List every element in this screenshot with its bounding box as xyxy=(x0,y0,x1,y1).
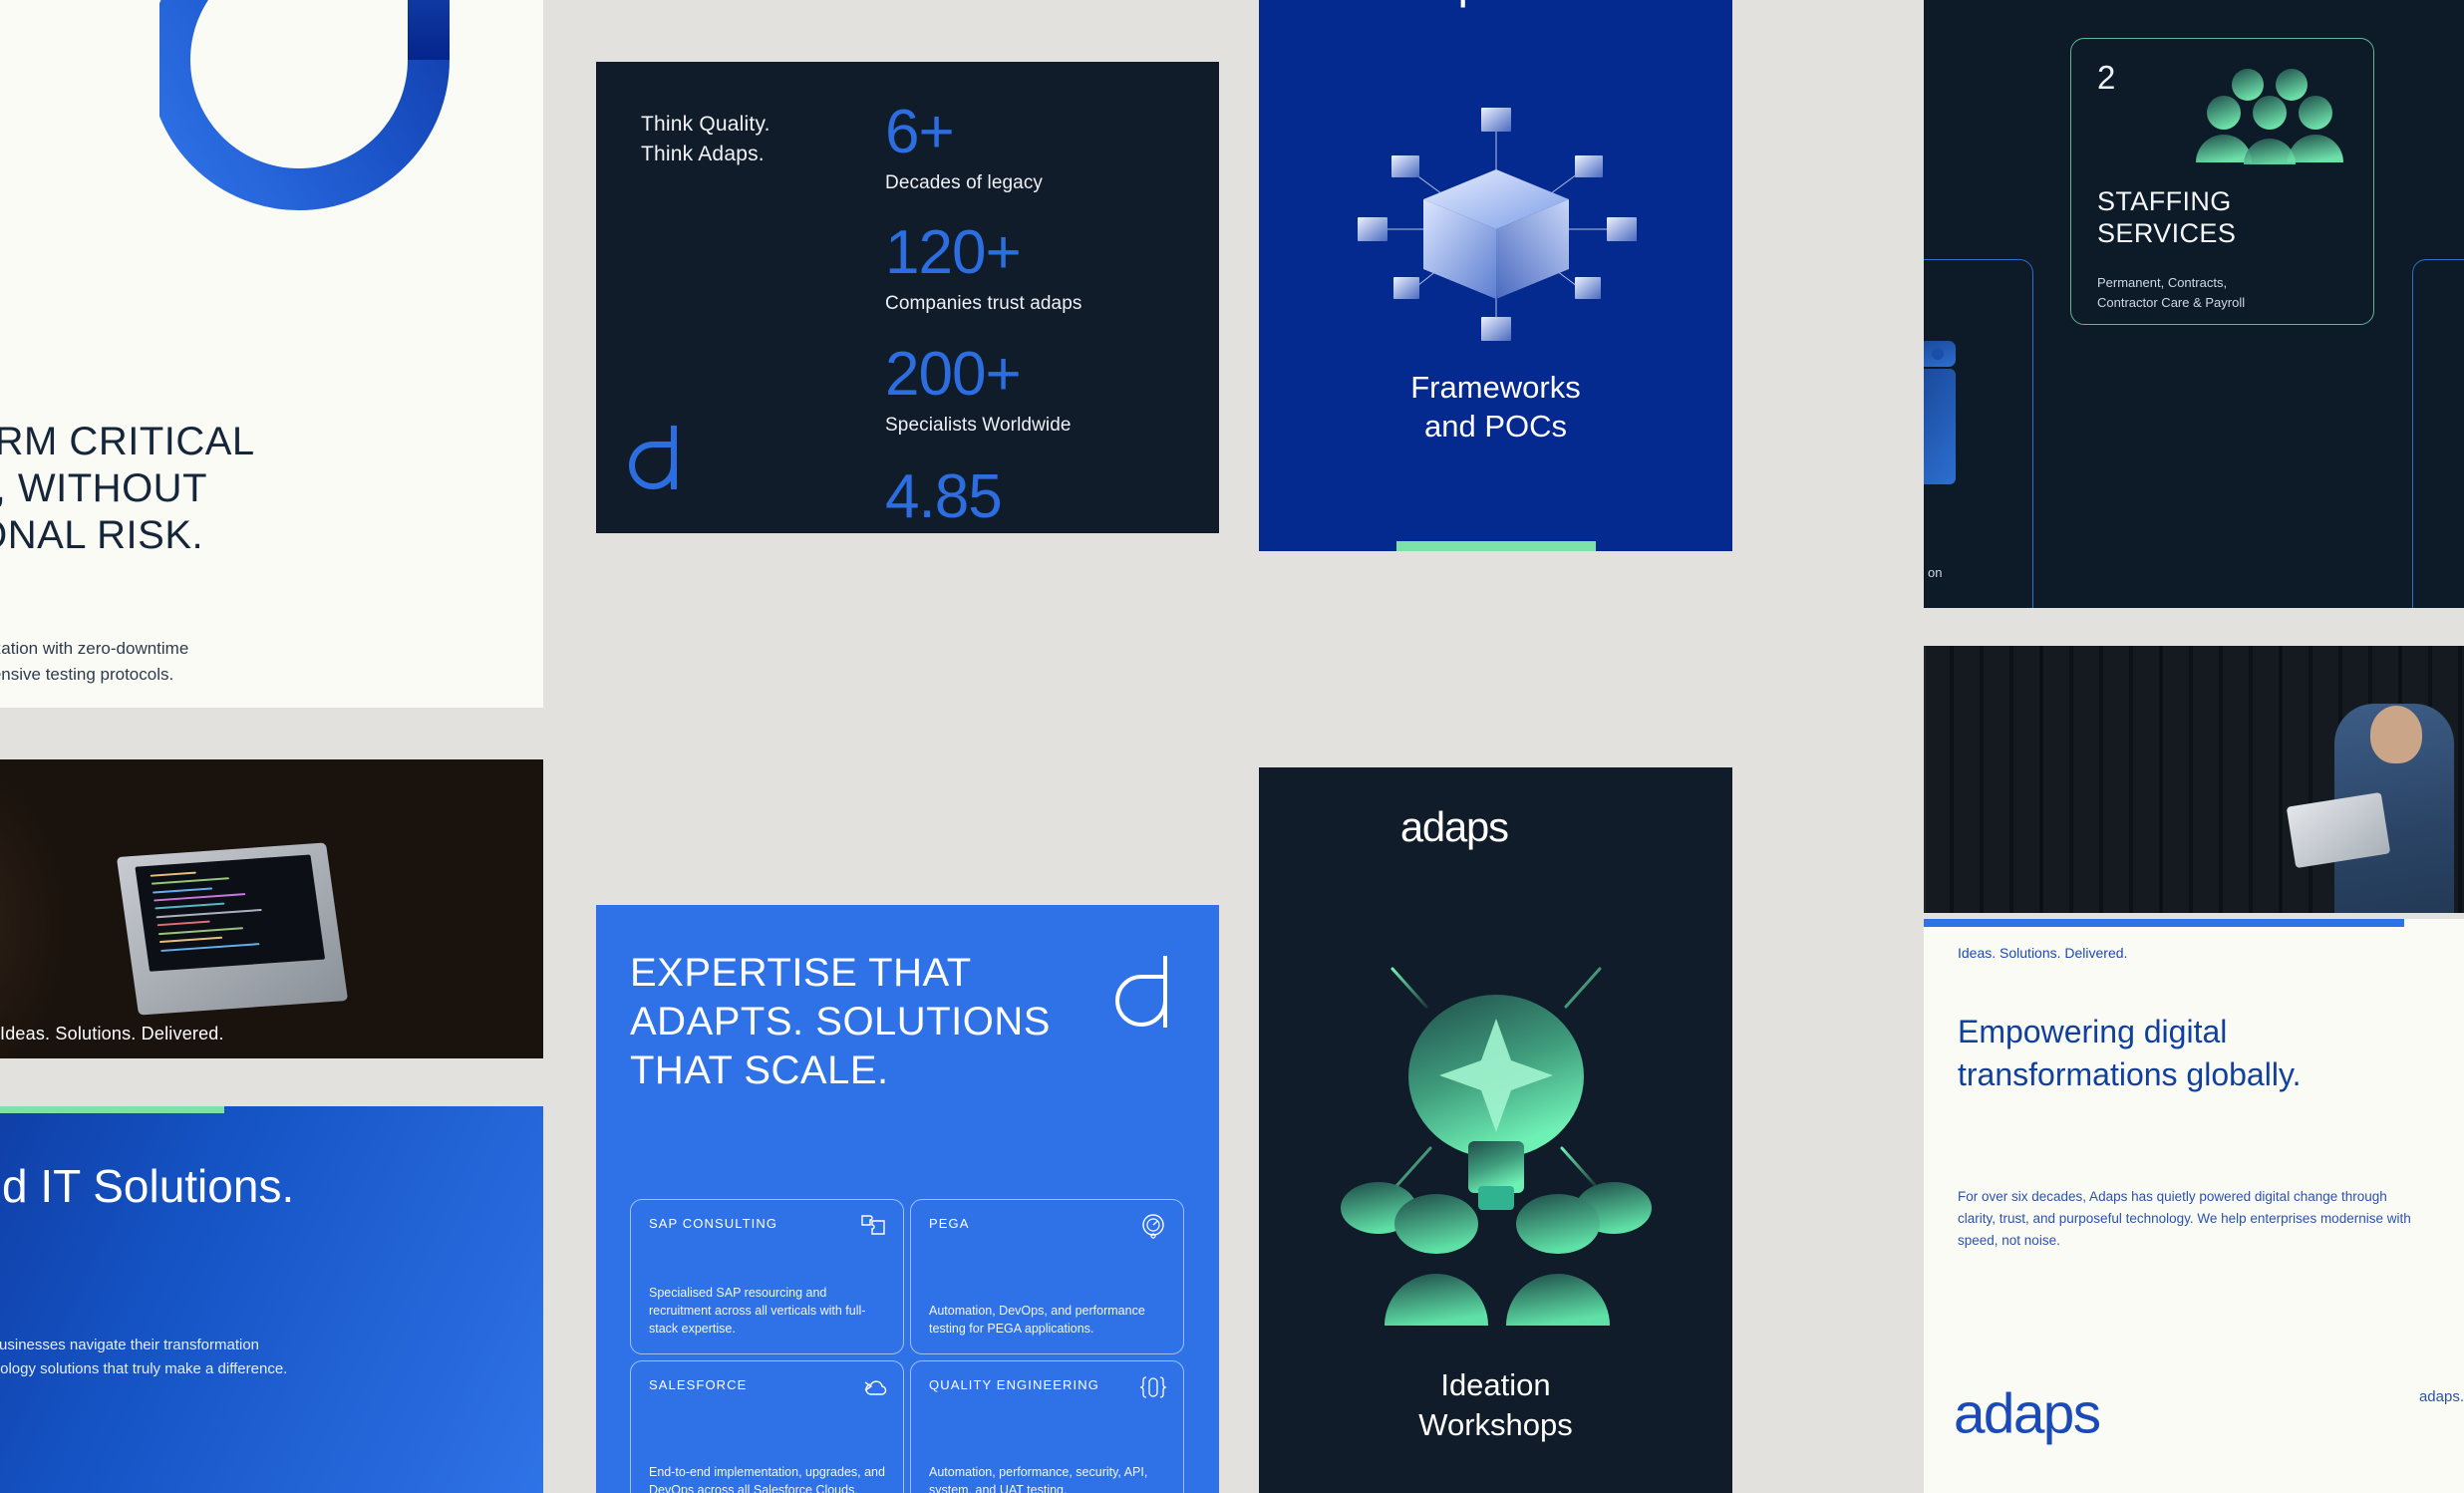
panel-frameworks-pocs: adaps xyxy=(1259,0,1732,551)
staffing-title-line2: SERVICES xyxy=(2097,218,2236,250)
service-title: PEGA xyxy=(929,1216,1165,1231)
adaps-a-mark-icon xyxy=(626,424,684,493)
svg-text:adaps: adaps xyxy=(1384,0,1504,8)
panel-server-photo xyxy=(1924,646,2464,913)
stat-value: 6+ xyxy=(885,104,1043,162)
svg-text:adaps: adaps xyxy=(1399,805,1507,850)
puzzle-icon xyxy=(859,1212,887,1240)
empower-body: For over six decades, Adaps has quietly … xyxy=(1958,1186,2411,1252)
frameworks-title-line1: Frameworks xyxy=(1259,369,1732,408)
ideation-title: Ideation Workshops xyxy=(1259,1365,1732,1446)
stat-value: 4.85 xyxy=(885,468,1072,527)
panel-transform: TRANSFORM CRITICAL SYSTEMS, WITHOUT OPER… xyxy=(0,0,543,708)
stat-item: 120+ Companies trust adaps xyxy=(885,224,1081,315)
frameworks-title: Frameworks and POCs xyxy=(1259,369,1732,447)
service-title: QUALITY ENGINEERING xyxy=(929,1377,1165,1392)
adaps-wordmark-white: adaps xyxy=(1384,0,1608,10)
empower-footer-mark: adaps. xyxy=(2419,1388,2464,1405)
panel-team-photo: Ideas. Solutions. Delivered. xyxy=(0,759,543,1058)
browser-window-icon xyxy=(1924,339,1994,488)
service-card-salesforce[interactable]: SALESFORCE End-to-end implementation, up… xyxy=(630,1360,904,1493)
panel-end-to-end: End-to-end IT Solutions. We are dedicate… xyxy=(0,1106,543,1493)
engineer-head xyxy=(2370,706,2422,763)
empower-eyebrow: Ideas. Solutions. Delivered. xyxy=(1958,945,2127,961)
transform-subtext: Enterprise-grade modernization with zero… xyxy=(0,636,259,689)
adaps-wordmark-blue: adaps xyxy=(1954,1383,2174,1445)
empower-heading-line1: Empowering digital xyxy=(1958,1011,2436,1053)
service-desc: End-to-end implementation, upgrades, and… xyxy=(649,1463,887,1493)
service-desc: Automation, performance, security, API, … xyxy=(929,1463,1167,1493)
brand-design-board: TRANSFORM CRITICAL SYSTEMS, WITHOUT OPER… xyxy=(0,0,2464,1493)
stats-slogan: Think Quality. Think Adaps. xyxy=(641,110,770,170)
end-to-end-heading: End-to-end IT Solutions. xyxy=(0,1158,439,1214)
staffing-desc-line2: Contractor Care & Payroll xyxy=(2097,293,2353,313)
stats-slogan-line2: Think Adaps. xyxy=(641,140,770,169)
braces-capsule-icon xyxy=(1139,1373,1167,1401)
service-desc: Specialised SAP resourcing and recruitme… xyxy=(649,1284,887,1338)
staffing-step-number: 2 xyxy=(2097,59,2115,97)
adaps-wordmark-white: adaps xyxy=(0,1433,57,1493)
adaps-a-logo-icon xyxy=(159,0,488,279)
lightbulb-team-icon xyxy=(1297,937,1695,1355)
mint-accent-bar xyxy=(1396,541,1596,551)
stat-caption: Decades of legacy xyxy=(885,172,1043,194)
stat-value: 120+ xyxy=(885,224,1081,283)
cloud-sync-icon xyxy=(859,1373,887,1401)
adaps-wordmark-white: adaps xyxy=(1399,805,1591,851)
people-group-icon xyxy=(2190,65,2349,164)
staffing-title-line1: STAFFING xyxy=(2097,186,2236,218)
browser-outline-decor-2 xyxy=(2412,259,2464,608)
transform-headline: TRANSFORM CRITICAL SYSTEMS, WITHOUT OPER… xyxy=(0,419,359,560)
cube-network-icon xyxy=(1332,100,1661,349)
laptop-screen xyxy=(135,855,325,972)
ideation-title-line2: Workshops xyxy=(1259,1405,1732,1445)
staffing-background-fragment: on xyxy=(1928,565,1942,580)
ideation-title-line1: Ideation xyxy=(1259,1365,1732,1405)
staffing-description: Permanent, Contracts, Contractor Care & … xyxy=(2097,273,2353,312)
expertise-heading: EXPERTISE THAT ADAPTS. SOLUTIONS THAT SC… xyxy=(630,949,1059,1096)
frameworks-title-line2: and POCs xyxy=(1259,408,1732,447)
services-grid: SAP CONSULTING Specialised SAP resourcin… xyxy=(630,1199,1184,1493)
service-title: SAP CONSULTING xyxy=(649,1216,885,1231)
staffing-title: STAFFING SERVICES xyxy=(2097,186,2236,250)
panel-stats: Think Quality. Think Adaps. 6+ Decades o… xyxy=(596,62,1219,533)
panel-staffing-services: 2 STAFFING SERVICES xyxy=(1924,0,2464,608)
svg-text:adaps: adaps xyxy=(1954,1383,2100,1445)
service-desc: Automation, DevOps, and performance test… xyxy=(929,1302,1167,1338)
gauge-icon xyxy=(1139,1212,1167,1240)
panel-expertise: EXPERTISE THAT ADAPTS. SOLUTIONS THAT SC… xyxy=(596,905,1219,1493)
end-to-end-body: We are dedicated to helping businesses n… xyxy=(0,1334,299,1381)
empower-heading-line2: transformations globally. xyxy=(1958,1053,2436,1096)
stat-caption: Specialists Worldwide xyxy=(885,415,1072,437)
laptop-prop xyxy=(117,842,348,1015)
staffing-desc-line1: Permanent, Contracts, xyxy=(2097,273,2353,293)
adaps-a-mark-white-icon xyxy=(1109,953,1177,1033)
panel-ideation-workshops: adaps xyxy=(1259,767,1732,1493)
stat-caption: Companies trust adaps xyxy=(885,293,1081,315)
stat-item: 4.85 Average Client Rating xyxy=(885,468,1072,533)
mint-accent-rule xyxy=(0,1106,224,1113)
stat-item: 6+ Decades of legacy xyxy=(885,104,1043,194)
panel-empowering: Ideas. Solutions. Delivered. Empowering … xyxy=(1924,919,2464,1493)
stats-slogan-line1: Think Quality. xyxy=(641,110,770,140)
blue-accent-bar xyxy=(1924,919,2404,927)
empower-heading: Empowering digital transformations globa… xyxy=(1958,1011,2436,1096)
service-card-pega[interactable]: PEGA Automation, DevOps, and performance… xyxy=(910,1199,1184,1354)
service-card-sap-consulting[interactable]: SAP CONSULTING Specialised SAP resourcin… xyxy=(630,1199,904,1354)
service-card-quality-engineering[interactable]: QUALITY ENGINEERING Automation, performa… xyxy=(910,1360,1184,1493)
staffing-card[interactable]: 2 STAFFING SERVICES xyxy=(2070,38,2374,325)
service-title: SALESFORCE xyxy=(649,1377,885,1392)
stat-value: 200+ xyxy=(885,346,1072,405)
photo-tagline: Ideas. Solutions. Delivered. xyxy=(0,1024,224,1045)
stat-item: 200+ Specialists Worldwide xyxy=(885,346,1072,437)
